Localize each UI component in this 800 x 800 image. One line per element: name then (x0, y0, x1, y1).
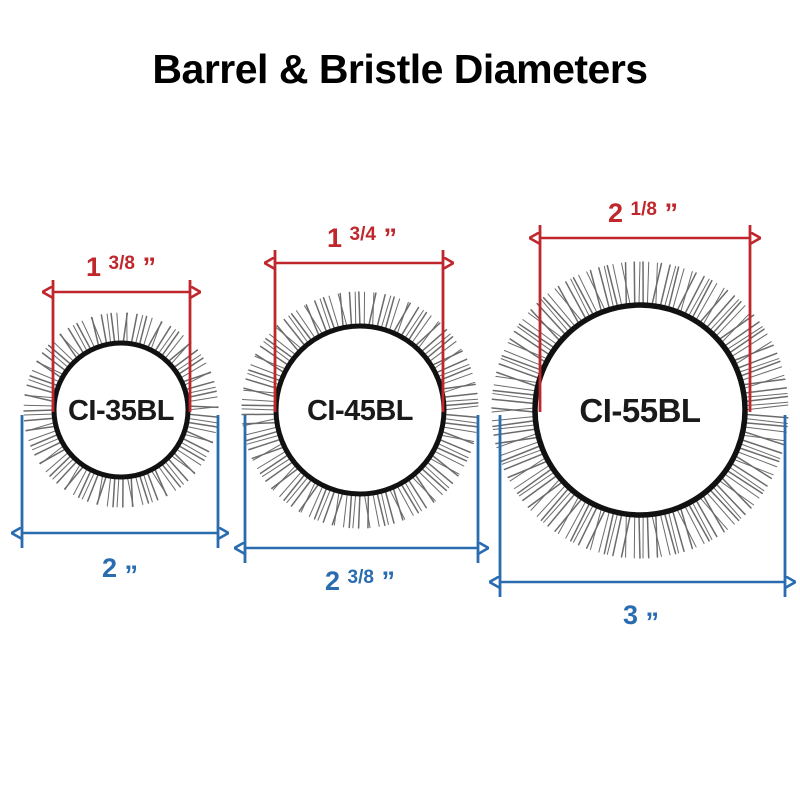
bristle (691, 281, 711, 320)
bristle (439, 435, 474, 442)
barrel-dim-fraction-2: 3/4 (350, 224, 377, 245)
brush-diameter-diagram: CI-35BL 1 3/8 ” 2 ” (0, 0, 800, 800)
bristle (242, 409, 277, 410)
bristle (496, 376, 540, 383)
bristle (544, 490, 573, 523)
bristle (256, 354, 286, 373)
bristle (515, 331, 552, 355)
bristle (304, 306, 323, 336)
bristle (242, 405, 277, 406)
bristle (143, 472, 152, 502)
bristle (249, 439, 282, 450)
bristle (725, 327, 762, 351)
barrel-dim-unit-3: ” (664, 198, 678, 228)
bristle (587, 272, 606, 312)
bristle (660, 512, 670, 555)
bristle (574, 278, 595, 317)
bristle (442, 423, 477, 427)
bristle (30, 376, 59, 386)
bristle (150, 469, 167, 495)
barrel-dim-whole-1: 1 (86, 252, 101, 282)
bristle (187, 418, 218, 423)
barrel-dim-fraction-3: 1/8 (631, 199, 657, 220)
bristle (639, 262, 640, 306)
bristle (743, 427, 787, 432)
bristle (147, 471, 158, 500)
bristle (684, 277, 704, 316)
bristle (744, 414, 788, 418)
barrel-dim-unit-2: ” (383, 223, 397, 253)
bristle (599, 268, 610, 311)
bristle (743, 423, 787, 427)
bristle (299, 483, 319, 512)
bristle (25, 418, 56, 421)
barrel-dimension-label-1: 1 3/8 ” (86, 245, 156, 282)
bristle (497, 433, 539, 448)
bristle (519, 324, 555, 349)
bristle (25, 395, 56, 397)
bristle (397, 302, 409, 335)
bristle (139, 473, 148, 503)
bristle (443, 403, 478, 406)
bristle (741, 435, 785, 441)
bristle (359, 292, 360, 327)
diagram-page: Barrel & Bristle Diameters CI-35BL (0, 0, 800, 800)
bristle (186, 422, 217, 427)
bristle (426, 461, 453, 484)
bristle (647, 262, 648, 306)
bristle (111, 314, 115, 345)
bristle (253, 443, 284, 460)
bristle (349, 493, 351, 528)
bristle (660, 265, 670, 308)
bristle (40, 445, 65, 464)
bristle (24, 410, 55, 411)
bristle-dimension-label-3: 3 ” (623, 600, 659, 637)
bristle (715, 482, 745, 514)
bristle (107, 475, 111, 506)
bristle (24, 405, 55, 406)
bristle (591, 507, 602, 550)
bristle (323, 489, 335, 522)
bristle (245, 427, 279, 435)
bristle (742, 375, 784, 389)
bristle (355, 292, 356, 327)
bristle (523, 474, 559, 500)
bristle (332, 491, 343, 524)
barrel-dim-unit-1: ” (142, 252, 156, 282)
bristle (639, 514, 640, 558)
barrel-label-3: CI-55BL (579, 392, 701, 429)
bristle (571, 501, 591, 540)
bristle (135, 474, 143, 504)
bristle-dim-fraction-2: 3/8 (348, 567, 374, 588)
bristle (344, 492, 348, 527)
bristle (494, 385, 538, 391)
brush-group-2: CI-45BL 1 3/4 ” 2 3/8 ” (242, 216, 478, 596)
bristle (599, 510, 610, 553)
bristle (368, 293, 376, 327)
bristle (688, 502, 709, 540)
bristle (117, 313, 119, 344)
bristle (579, 505, 598, 545)
barrel-dim-fraction-1: 3/8 (109, 253, 135, 274)
barrel-dimension-label-3: 2 1/8 ” (608, 191, 678, 228)
bristle (359, 493, 360, 528)
bristle (393, 303, 410, 334)
bristle (443, 406, 478, 410)
bristle (187, 406, 218, 407)
bristle (723, 322, 759, 347)
bristle (353, 493, 356, 528)
bristle (647, 514, 648, 558)
bristle (730, 462, 767, 486)
bristle (541, 300, 570, 333)
bristle (426, 337, 453, 359)
bristle (433, 349, 462, 369)
bristle (440, 384, 475, 389)
bristle (373, 293, 374, 328)
bristle (709, 488, 739, 520)
bristle (377, 295, 385, 329)
bristle (537, 304, 567, 337)
bristle (571, 279, 591, 318)
bristle (139, 316, 147, 346)
bristle (107, 314, 111, 345)
bristle (389, 299, 400, 332)
barrel-dimension-label-2: 1 3/4 ” (327, 216, 397, 253)
brush-group-1: CI-35BL 1 3/8 ” 2 ” (22, 245, 218, 590)
bristle (613, 265, 622, 308)
bristle-dim-unit-1: ” (125, 560, 139, 590)
bristle (442, 394, 477, 398)
bristle (393, 486, 403, 520)
bristle (101, 315, 106, 346)
bristle-dim-unit-2: ” (381, 566, 395, 596)
bristle (117, 476, 119, 507)
bristle (24, 414, 55, 415)
bristle-dim-whole-2: 2 (325, 566, 340, 596)
bristle (292, 314, 313, 342)
bristle (428, 457, 459, 474)
bristle (252, 447, 285, 459)
bristle (291, 478, 312, 506)
bristle (88, 472, 99, 501)
bristle (443, 414, 478, 417)
bristle (364, 493, 370, 528)
bristle (712, 485, 741, 518)
barrel-label-2: CI-45BL (307, 395, 413, 427)
bristle-dimension-label-2: 2 3/8 ” (325, 559, 395, 596)
bristle (519, 471, 555, 496)
bristle-dim-whole-1: 2 (102, 553, 117, 583)
bristle (613, 512, 622, 555)
bristle-dim-unit-3: ” (646, 607, 660, 637)
bristle (709, 300, 739, 332)
bristle (29, 430, 58, 441)
barrel-dim-whole-2: 1 (327, 223, 342, 253)
bristle (492, 399, 536, 403)
bristle (579, 275, 598, 315)
bristle (37, 362, 65, 375)
bristle (32, 371, 61, 383)
bristle (113, 476, 115, 507)
bristle (329, 296, 339, 330)
bristle (185, 426, 215, 432)
barrel-label-1: CI-35BL (68, 395, 174, 427)
bristle (541, 487, 570, 520)
bristle (187, 414, 218, 417)
brush-group-3: CI-55BL 2 1/8 ” 3 ” (492, 191, 788, 637)
bristle (423, 464, 449, 488)
bristle (60, 335, 81, 358)
barrel-dim-whole-3: 2 (608, 198, 623, 228)
bristle (242, 399, 277, 401)
bristle (626, 513, 627, 557)
bristle (385, 297, 394, 331)
bristle (443, 418, 478, 423)
bristle (349, 292, 351, 327)
bristle (725, 469, 762, 493)
bristle (150, 322, 161, 351)
bristle-dimension-label-1: 2 ” (102, 553, 138, 590)
bristle-dim-whole-3: 3 (623, 600, 638, 630)
bristle (243, 423, 278, 424)
bristle (441, 427, 476, 433)
bristle (430, 454, 458, 476)
bristle (544, 298, 573, 331)
bristle (246, 431, 280, 441)
bristle (712, 302, 741, 335)
bristle (443, 399, 478, 401)
bristle (574, 503, 595, 542)
